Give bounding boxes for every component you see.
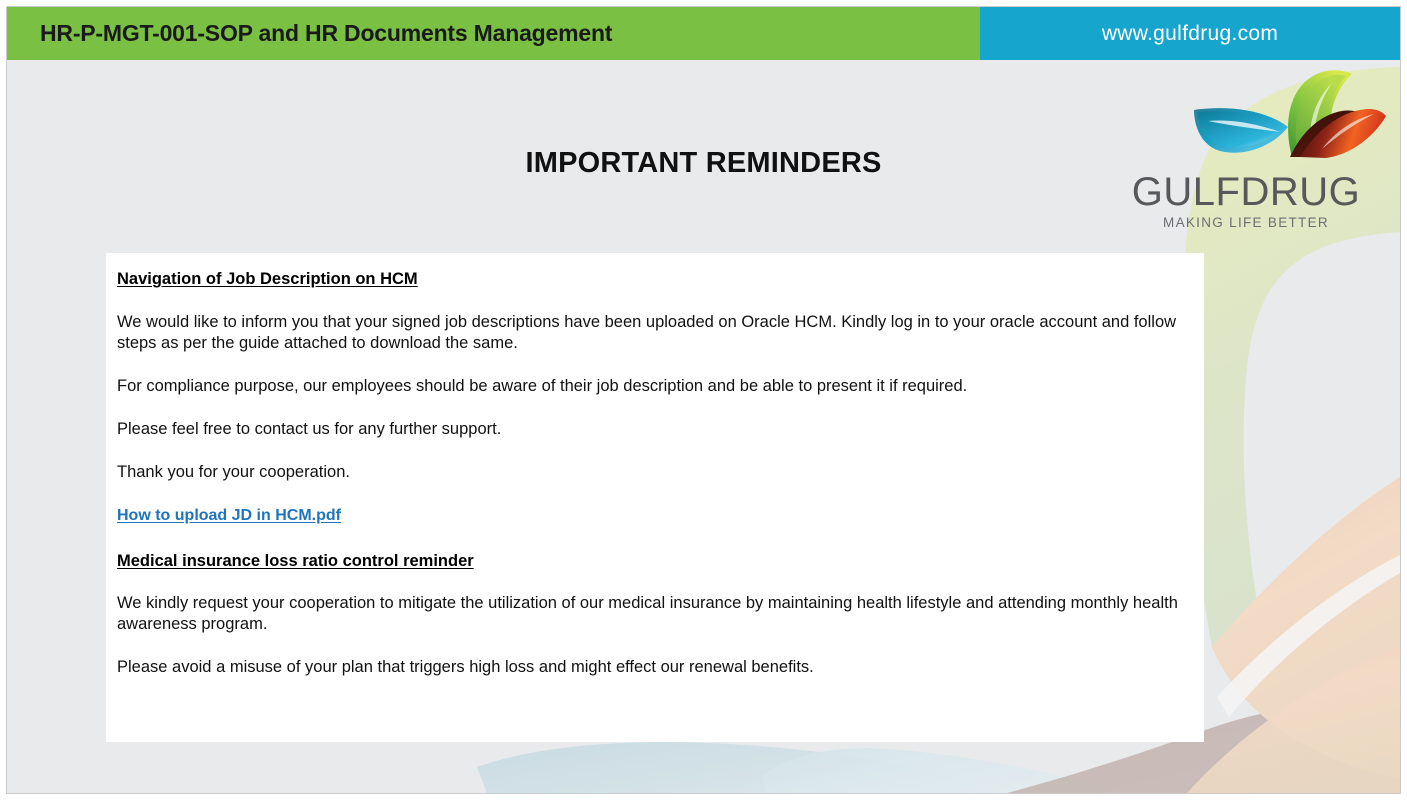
header-url-band: www.gulfdrug.com [980,7,1400,60]
logo-tagline: MAKING LIFE BETTER [1100,216,1392,230]
section1-paragraph-4: Thank you for your cooperation. [117,462,1193,483]
document-title: HR-P-MGT-001-SOP and HR Documents Manage… [7,20,612,47]
page-title-text: IMPORTANT REMINDERS [525,147,881,179]
section2-paragraph-1: We kindly request your cooperation to mi… [117,593,1193,635]
section1-paragraph-3: Please feel free to contact us for any f… [117,419,1193,440]
section2-paragraph-2: Please avoid a misuse of your plan that … [117,657,1193,678]
attachment-link-how-to-upload-jd[interactable]: How to upload JD in HCM.pdf [117,507,341,525]
slide-root: HR-P-MGT-001-SOP and HR Documents Manage… [0,0,1407,800]
page-title: IMPORTANT REMINDERS [7,147,1400,180]
website-url: www.gulfdrug.com [1102,22,1278,46]
header-title-band: HR-P-MGT-001-SOP and HR Documents Manage… [7,7,980,60]
slide-canvas: HR-P-MGT-001-SOP and HR Documents Manage… [6,6,1401,794]
content-card: Navigation of Job Description on HCM We … [106,253,1204,742]
section1-paragraph-2: For compliance purpose, our employees sh… [117,376,1193,397]
section-heading-medical-insurance: Medical insurance loss ratio control rem… [117,551,1193,572]
logo-wordmark: GULFDRUG MAKING LIFE BETTER [1100,172,1392,230]
section1-paragraph-1: We would like to inform you that your si… [117,312,1193,354]
slide-header-bar: HR-P-MGT-001-SOP and HR Documents Manage… [7,7,1400,60]
section-heading-navigation: Navigation of Job Description on HCM [117,269,1193,290]
